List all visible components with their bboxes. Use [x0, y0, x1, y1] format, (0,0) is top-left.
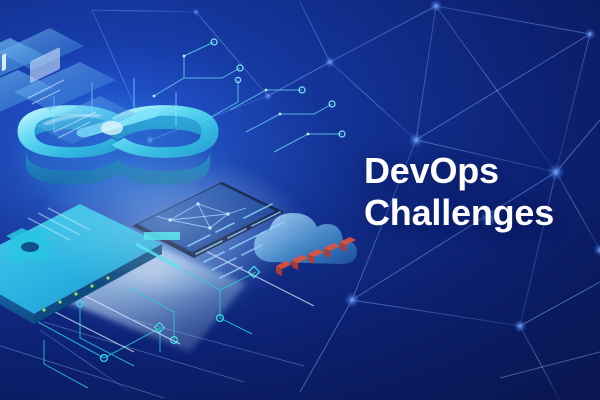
banner-root: DevOps Challenges	[0, 0, 600, 400]
title-line-1: DevOps	[364, 150, 600, 192]
title-line-2: Challenges	[364, 192, 600, 234]
page-title: DevOps Challenges	[364, 150, 600, 234]
